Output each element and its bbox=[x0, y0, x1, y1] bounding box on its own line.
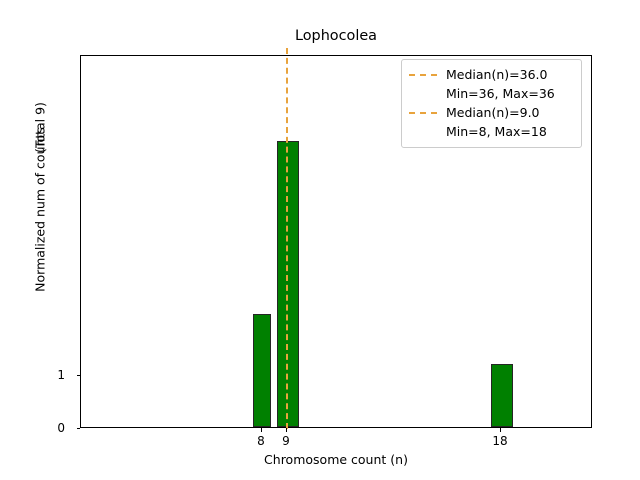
legend-label: Median(n)=9.0 bbox=[446, 105, 540, 120]
legend-entry-median-36: Median(n)=36.0 bbox=[409, 65, 574, 84]
legend-label: Min=8, Max=18 bbox=[446, 124, 547, 139]
y-axis-total-label: (Total 9) bbox=[33, 58, 48, 198]
xtick-label-8: 8 bbox=[257, 434, 265, 448]
median-line-icon bbox=[286, 48, 288, 429]
x-axis-label: Chromosome count (n) bbox=[80, 452, 592, 467]
legend-entry-minmax-36: Min=36, Max=36 bbox=[409, 84, 574, 103]
xtick-mark-18 bbox=[500, 428, 501, 432]
xtick-mark-8 bbox=[261, 428, 262, 432]
chart-title: Lophocolea bbox=[80, 28, 592, 44]
bar-18 bbox=[491, 364, 513, 427]
xtick-mark-9 bbox=[286, 428, 287, 432]
bar-8 bbox=[253, 314, 271, 427]
dashed-line-icon bbox=[409, 112, 437, 114]
ytick-mark-0 bbox=[77, 428, 81, 429]
xtick-label-9: 9 bbox=[282, 434, 290, 448]
legend-label: Median(n)=36.0 bbox=[446, 67, 547, 82]
legend-entry-median-9: Median(n)=9.0 bbox=[409, 103, 574, 122]
bar-9 bbox=[277, 141, 299, 427]
legend-entry-minmax-8-18: Min=8, Max=18 bbox=[409, 122, 574, 141]
dashed-line-icon bbox=[409, 74, 437, 76]
ytick-label-1: 1 bbox=[57, 368, 65, 382]
legend-label: Min=36, Max=36 bbox=[446, 86, 555, 101]
ytick-label-0: 0 bbox=[57, 421, 65, 435]
ytick-mark-1 bbox=[77, 375, 81, 376]
legend-box: Median(n)=36.0 Min=36, Max=36 Median(n)=… bbox=[401, 59, 582, 148]
figure-canvas: Lophocolea 8 9 18 0 1 Chromosome count (… bbox=[0, 0, 640, 480]
xtick-label-18: 18 bbox=[492, 434, 507, 448]
